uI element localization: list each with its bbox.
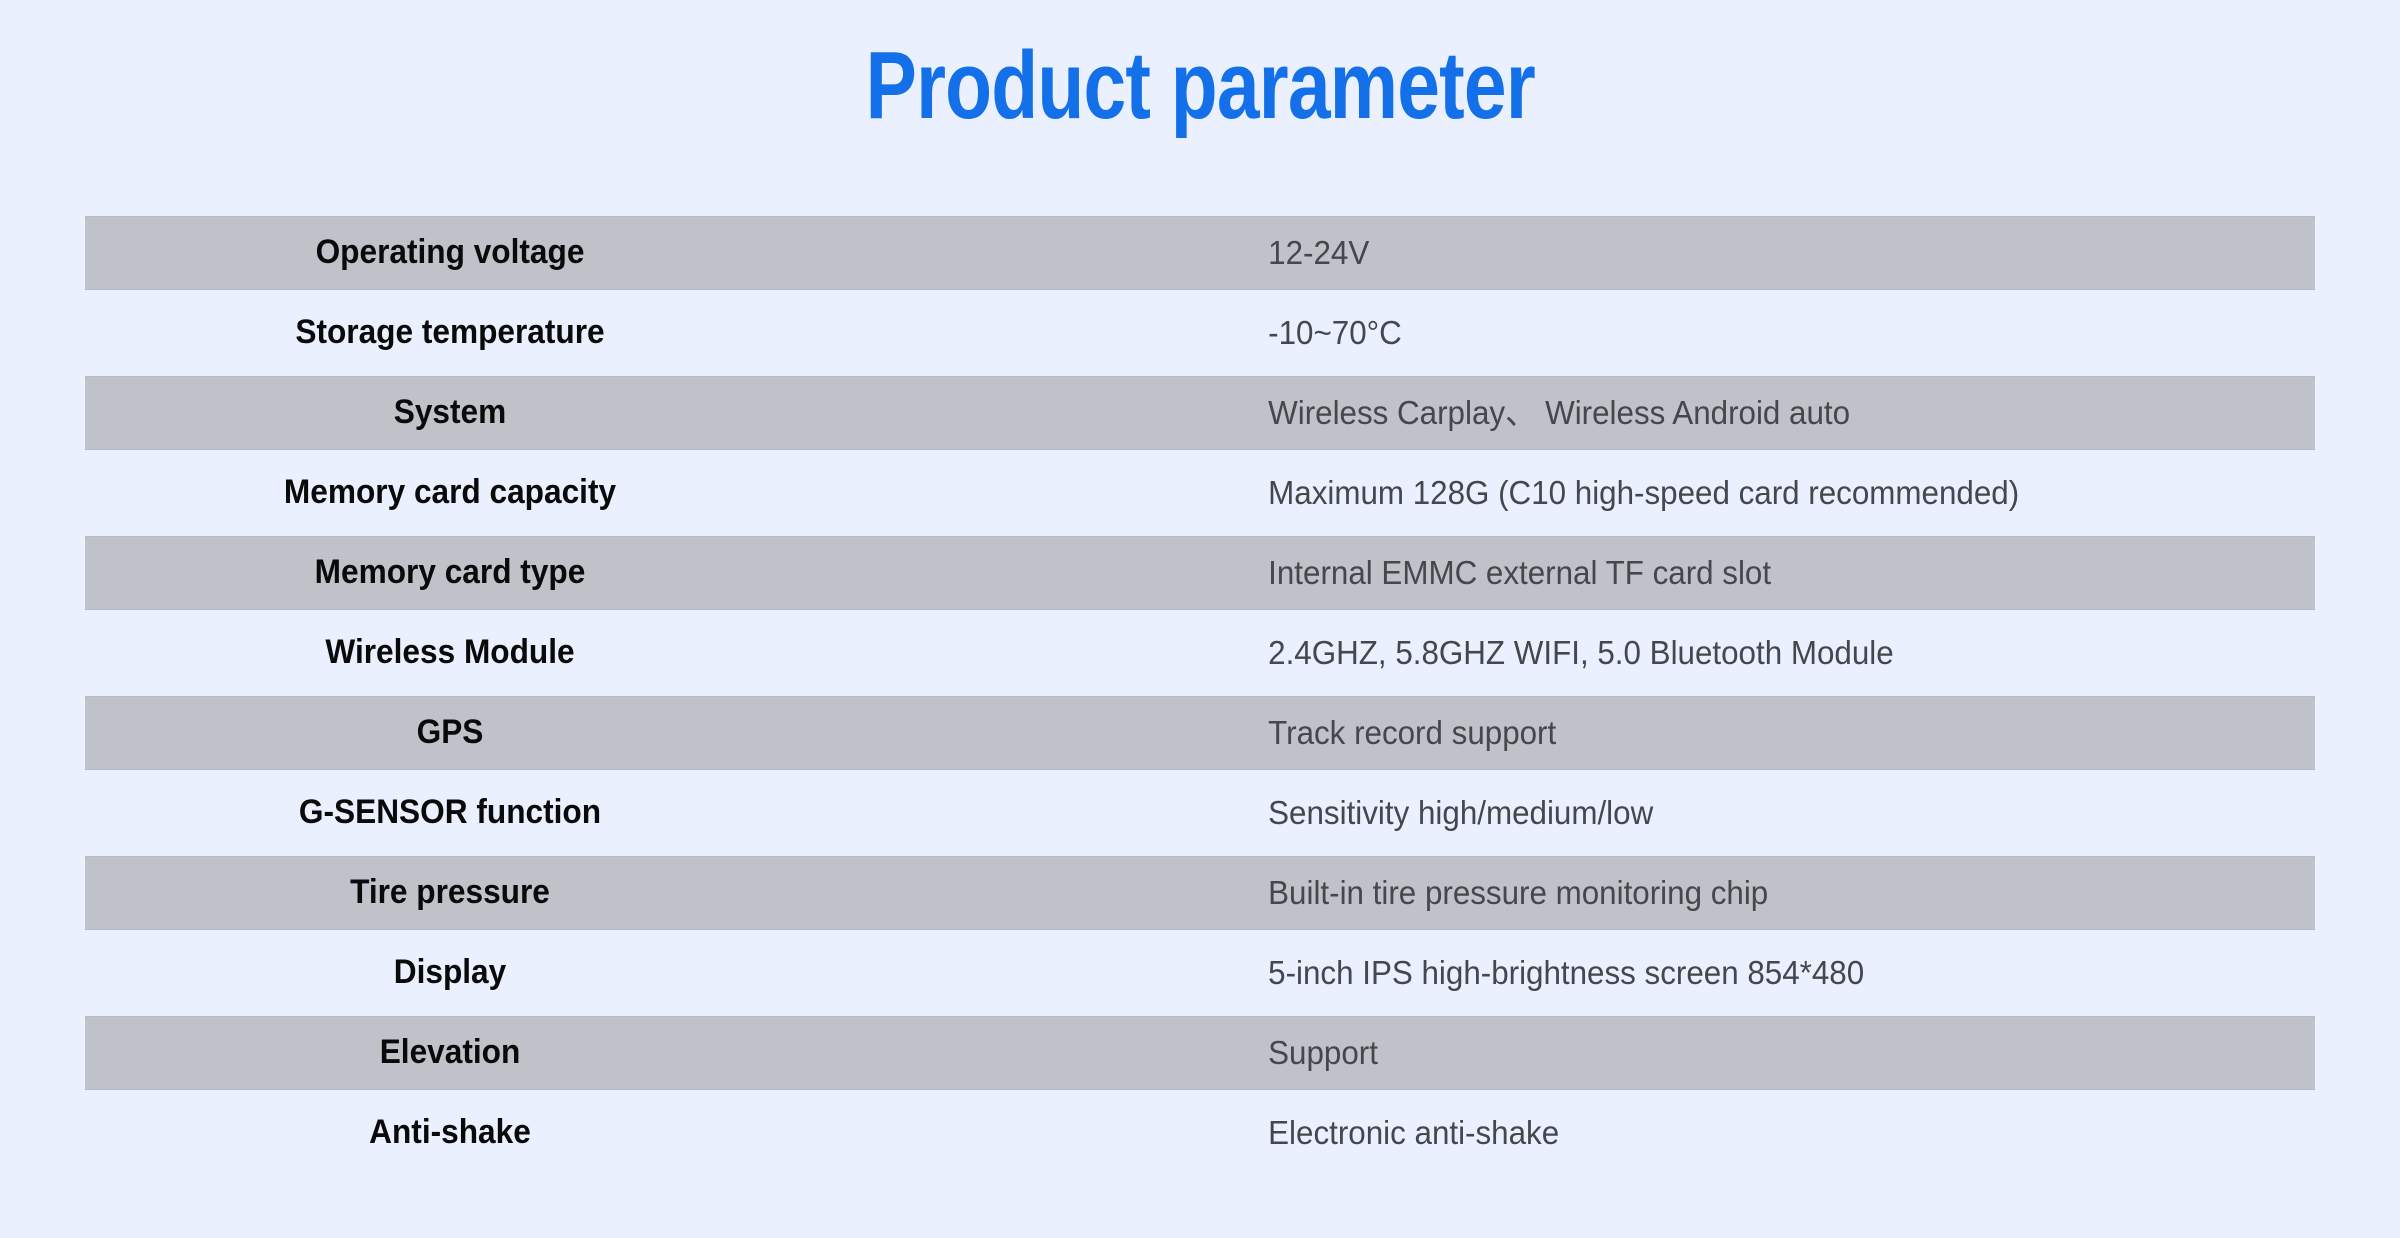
spec-value: -10~70°C	[815, 315, 2240, 351]
spec-value: Support	[815, 1035, 2240, 1071]
spec-label: Memory card type	[111, 554, 790, 591]
spec-label: Anti-shake	[111, 1114, 790, 1151]
table-row: Memory card capacityMaximum 128G (C10 hi…	[85, 456, 2315, 530]
spec-value: Electronic anti-shake	[815, 1115, 2240, 1151]
spec-label: Tire pressure	[111, 874, 790, 911]
table-row: Operating voltage12-24V	[85, 216, 2315, 290]
spec-value: 2.4GHZ, 5.8GHZ WIFI, 5.0 Bluetooth Modul…	[815, 635, 2240, 671]
specification-table: Operating voltage12-24VStorage temperatu…	[85, 216, 2315, 1176]
spec-value: Built-in tire pressure monitoring chip	[815, 875, 2240, 911]
table-row: Tire pressureBuilt-in tire pressure moni…	[85, 856, 2315, 930]
spec-label: Wireless Module	[111, 634, 790, 671]
spec-label: GPS	[111, 714, 790, 751]
spec-value: Maximum 128G (C10 high-speed card recomm…	[815, 475, 2240, 511]
spec-value: 12-24V	[815, 235, 2240, 271]
spec-label: Storage temperature	[111, 314, 790, 351]
spec-label: Elevation	[111, 1034, 790, 1071]
spec-value: Track record support	[815, 715, 2240, 751]
spec-label: Display	[111, 954, 790, 991]
spec-value: Internal EMMC external TF card slot	[815, 555, 2240, 591]
spec-value: Sensitivity high/medium/low	[815, 795, 2240, 831]
page-title-container: Product parameter	[0, 38, 2400, 134]
table-row: Wireless Module2.4GHZ, 5.8GHZ WIFI, 5.0 …	[85, 616, 2315, 690]
page-title: Product parameter	[865, 38, 1534, 134]
table-row: Display5-inch IPS high-brightness screen…	[85, 936, 2315, 1010]
spec-label: Operating voltage	[111, 234, 790, 271]
table-row: Memory card typeInternal EMMC external T…	[85, 536, 2315, 610]
table-row: G-SENSOR functionSensitivity high/medium…	[85, 776, 2315, 850]
product-parameter-page: Product parameter Operating voltage12-24…	[0, 0, 2400, 1238]
table-row: SystemWireless Carplay、 Wireless Android…	[85, 376, 2315, 450]
spec-label: Memory card capacity	[111, 474, 790, 511]
table-row: Storage temperature-10~70°C	[85, 296, 2315, 370]
table-row: GPSTrack record support	[85, 696, 2315, 770]
table-row: ElevationSupport	[85, 1016, 2315, 1090]
spec-value: 5-inch IPS high-brightness screen 854*48…	[815, 955, 2240, 991]
spec-label: G-SENSOR function	[111, 794, 790, 831]
table-row: Anti-shakeElectronic anti-shake	[85, 1096, 2315, 1170]
spec-value: Wireless Carplay、 Wireless Android auto	[815, 395, 2240, 431]
spec-label: System	[111, 394, 790, 431]
